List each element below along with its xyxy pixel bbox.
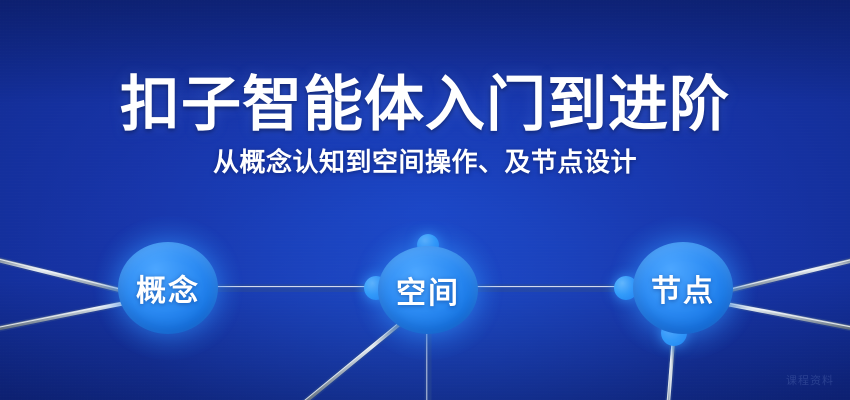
watermark: 课程资料: [786, 372, 834, 388]
node-node-label: 节点: [651, 266, 715, 310]
page-title: 扣子智能体入门到进阶: [0, 74, 850, 136]
node-space-label: 空间: [396, 268, 460, 312]
edge-space-bottom: [427, 330, 428, 400]
headline-block: 扣子智能体入门到进阶 从概念认知到空间操作、及节点设计: [0, 74, 850, 179]
page-subtitle: 从概念认知到空间操作、及节点设计: [0, 147, 850, 178]
course-banner: 扣子智能体入门到进阶 从概念认知到空间操作、及节点设计 概念 空间 节点 课程资…: [0, 0, 850, 400]
edge-space-bottom-left: [299, 321, 402, 400]
network-diagram: [0, 0, 850, 400]
node-concept[interactable]: 概念: [118, 242, 218, 334]
node-space[interactable]: 空间: [378, 246, 478, 334]
node-node[interactable]: 节点: [633, 242, 733, 334]
node-concept-label: 概念: [136, 266, 200, 310]
